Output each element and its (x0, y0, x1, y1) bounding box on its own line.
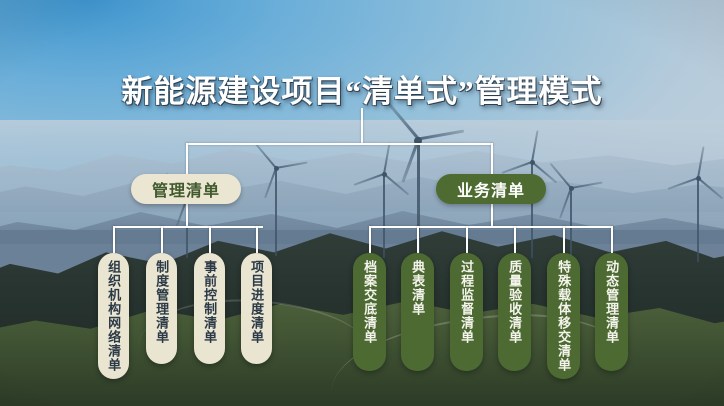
connector-management-leaf-2 (161, 226, 163, 253)
list-item[interactable]: 动态管理清单 (595, 253, 628, 371)
list-item[interactable]: 事前控制清单 (194, 253, 225, 364)
connector-business-leaf-3 (466, 226, 468, 253)
branch-header-business-label: 业务清单 (457, 177, 525, 201)
connector-business-leaf-5 (563, 226, 565, 253)
connector-business-leaf-4 (514, 226, 516, 253)
connector-business-leaf-2 (417, 226, 419, 253)
list-item-label: 特殊载体移交清单 (555, 260, 572, 372)
list-item-label: 过程监督清单 (458, 260, 475, 344)
list-item[interactable]: 组织机构网络清单 (98, 253, 129, 379)
connector-drop-management (186, 143, 188, 174)
list-item[interactable]: 过程监督清单 (450, 253, 483, 371)
connector-business-bar (369, 226, 613, 228)
slide-canvas: 新能源建设项目“清单式”管理模式 管理清单 业务清单 组织机构网络清单 制度管理… (0, 0, 724, 406)
connector-management-leaf-3 (209, 226, 211, 253)
list-item[interactable]: 典表清单 (401, 253, 434, 371)
list-item-label: 项目进度清单 (248, 260, 265, 344)
list-item[interactable]: 项目进度清单 (241, 253, 272, 364)
list-item[interactable]: 档案交底清单 (353, 253, 386, 371)
list-item[interactable]: 质量验收清单 (498, 253, 531, 371)
connector-management-stem (186, 204, 188, 227)
connector-top-bar (186, 143, 493, 145)
list-item-label: 组织机构网络清单 (105, 260, 122, 372)
list-item-label: 档案交底清单 (361, 260, 378, 344)
connector-management-leaf-4 (256, 226, 258, 253)
list-item-label: 制度管理清单 (153, 260, 170, 344)
connector-business-stem (491, 204, 493, 227)
connector-title-stem (361, 108, 363, 144)
branch-header-management-label: 管理清单 (152, 177, 220, 201)
list-item-label: 事前控制清单 (201, 260, 218, 344)
list-item-label: 动态管理清单 (603, 260, 620, 344)
list-item[interactable]: 制度管理清单 (146, 253, 177, 364)
branch-header-management[interactable]: 管理清单 (131, 174, 241, 204)
connector-drop-business (491, 143, 493, 174)
page-title: 新能源建设项目“清单式”管理模式 (0, 66, 724, 111)
connector-business-leaf-6 (611, 226, 613, 253)
list-item-label: 典表清单 (409, 260, 426, 316)
list-item[interactable]: 特殊载体移交清单 (547, 253, 580, 379)
branch-header-business[interactable]: 业务清单 (436, 174, 546, 204)
connector-management-bar (113, 226, 263, 228)
list-item-label: 质量验收清单 (506, 260, 523, 344)
connector-management-leaf-1 (113, 226, 115, 253)
connector-business-leaf-1 (369, 226, 371, 253)
